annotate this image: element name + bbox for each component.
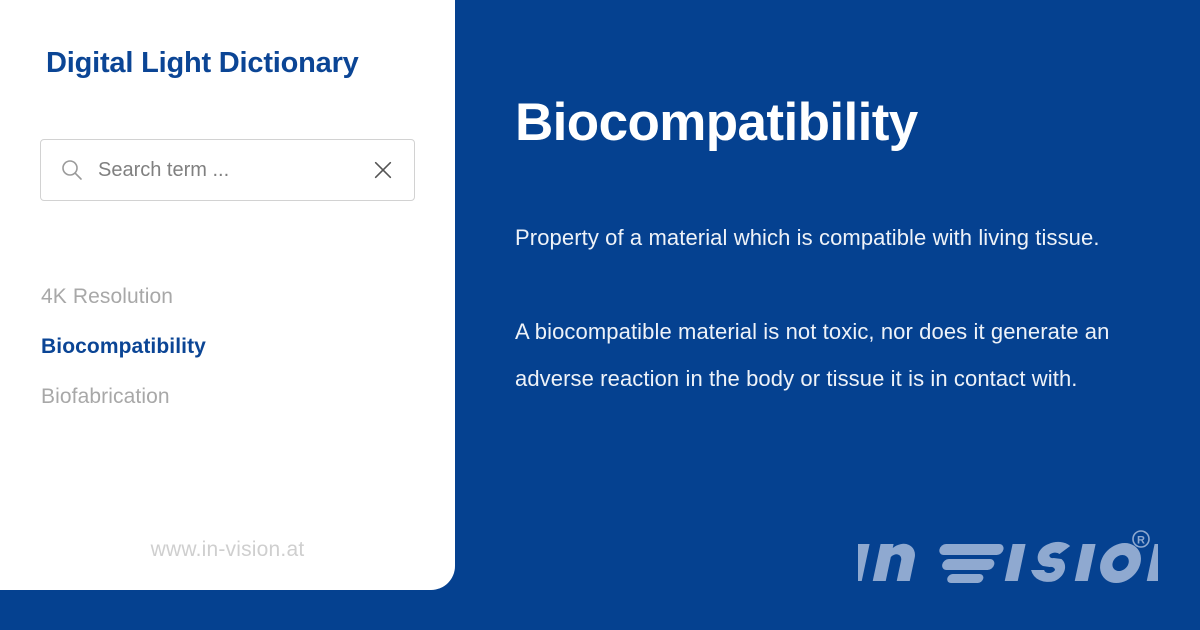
svg-text:R: R <box>1137 535 1145 547</box>
search-box[interactable] <box>40 139 415 201</box>
search-icon <box>60 158 84 182</box>
entry-title: Biocompatibility <box>515 96 918 149</box>
list-item[interactable]: Biocompatibility <box>41 336 421 357</box>
page-title: Digital Light Dictionary <box>46 47 359 80</box>
entry-body: Property of a material which is compatib… <box>515 214 1170 402</box>
site-url[interactable]: www.in-vision.at <box>0 538 455 562</box>
registered-trademark-icon: R <box>1133 531 1149 547</box>
sidebar-card: Digital Light Dictionary 4K Resolution B… <box>0 0 455 590</box>
entry-paragraph: A biocompatible material is not toxic, n… <box>515 308 1170 402</box>
list-item[interactable]: Biofabrication <box>41 386 421 407</box>
list-item[interactable]: 4K Resolution <box>41 286 421 307</box>
term-list: 4K Resolution Biocompatibility Biofabric… <box>41 286 421 407</box>
close-icon[interactable] <box>372 159 394 181</box>
entry-paragraph: Property of a material which is compatib… <box>515 214 1170 261</box>
in-vision-logo: R <box>858 528 1158 590</box>
page-root: Digital Light Dictionary 4K Resolution B… <box>0 0 1200 630</box>
search-input[interactable] <box>98 159 364 182</box>
